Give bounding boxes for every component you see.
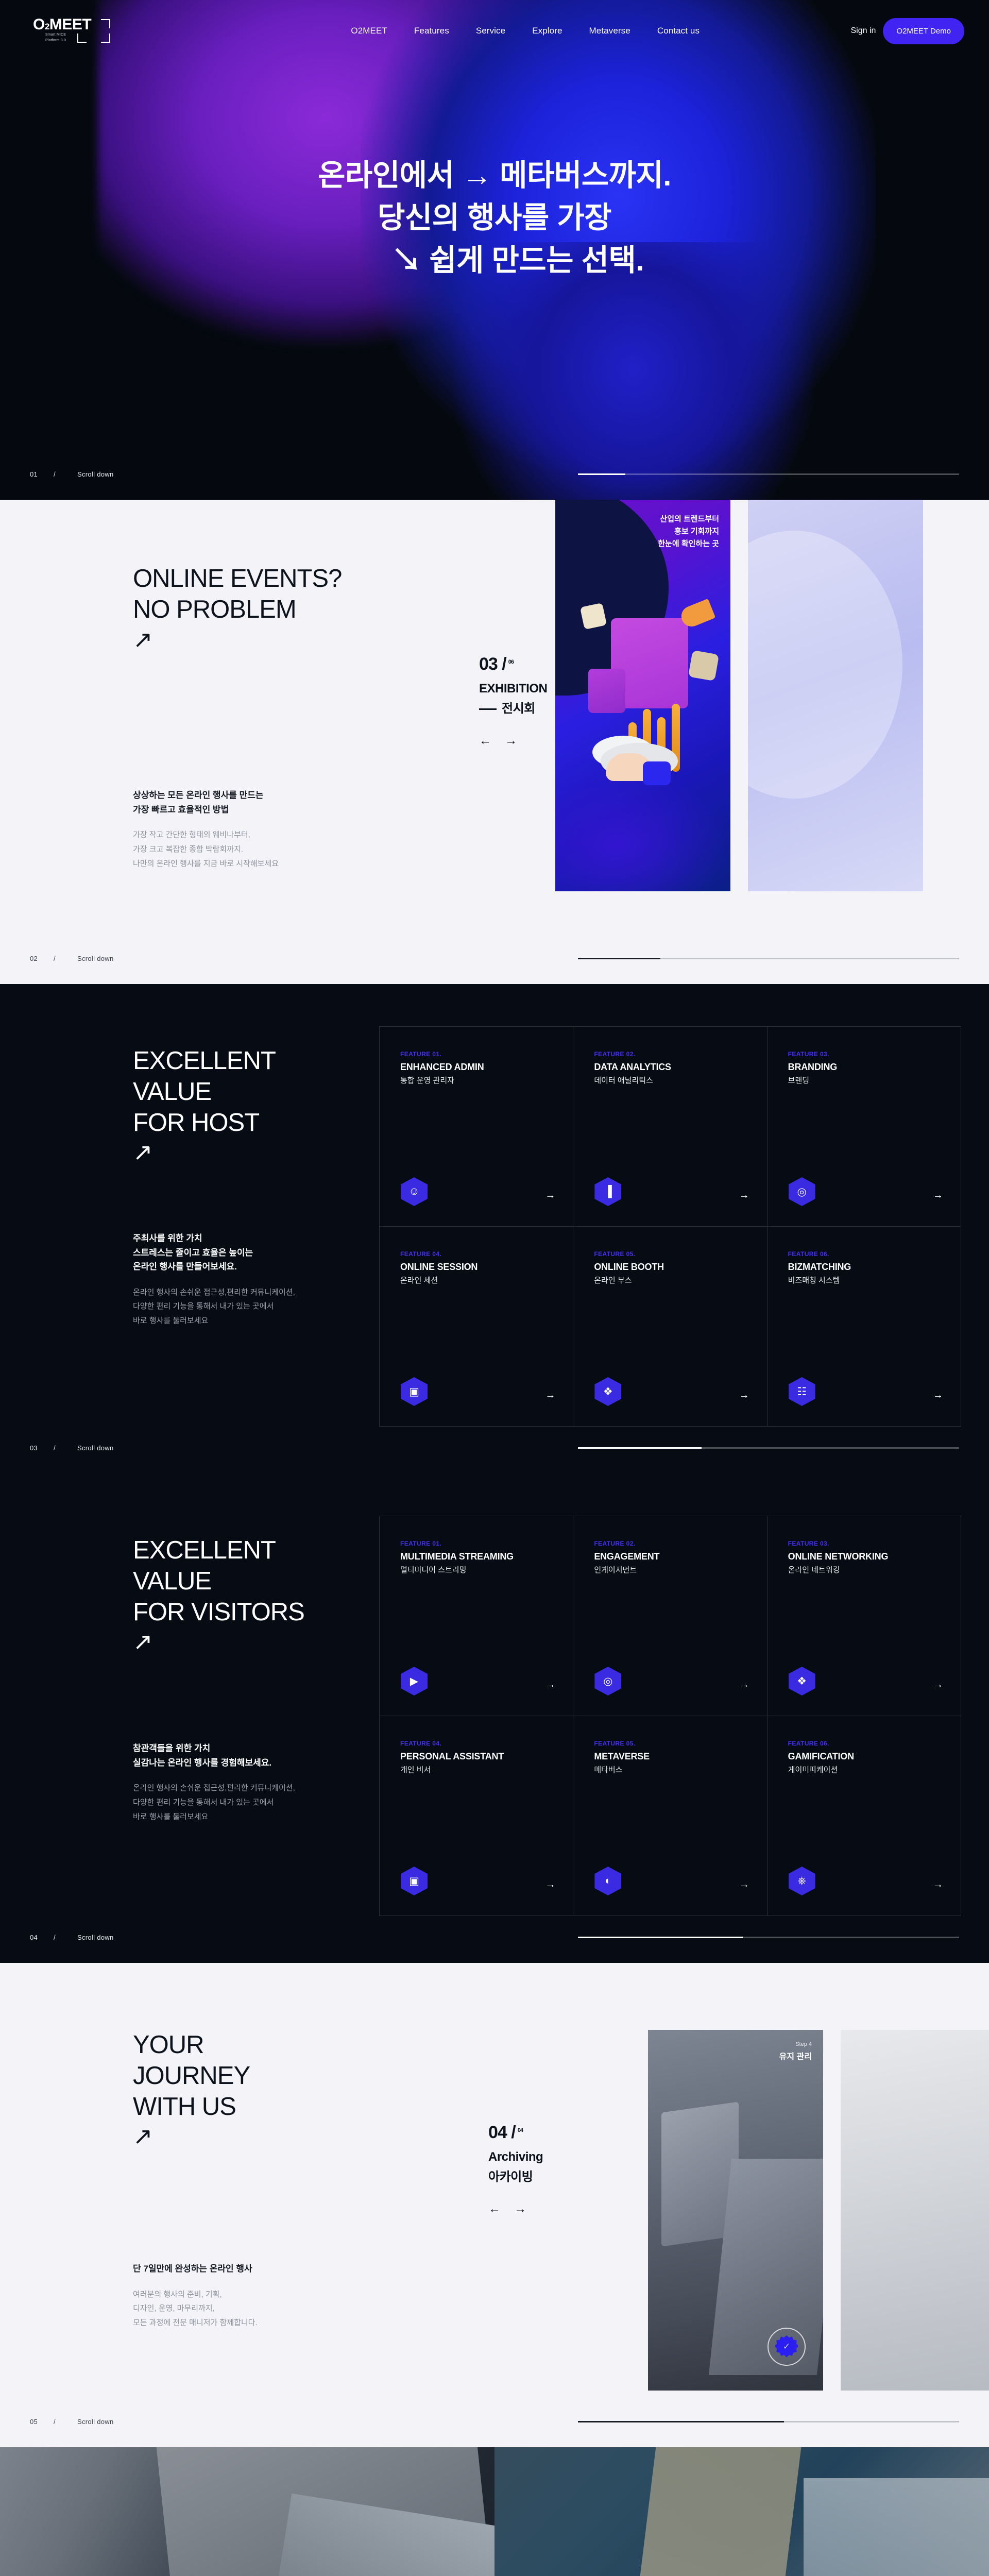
logo-wordmark: O2MEET: [33, 17, 91, 32]
branding-icon: ◎: [788, 1178, 816, 1206]
carousel-next-button[interactable]: →: [514, 2202, 526, 2216]
feature-title-en: ONLINE BOOTH: [594, 1262, 749, 1273]
feature-card[interactable]: FEATURE 02. ENGAGEMENT 인게이지먼트 ◎ →: [573, 1516, 767, 1716]
sign-in-link[interactable]: Sign in: [850, 26, 876, 36]
feature-card[interactable]: FEATURE 03. BRANDING 브랜딩 ◎ →: [768, 1027, 961, 1227]
illustration-panel-small: [588, 669, 625, 713]
heading-line-3: WITH US: [133, 2093, 236, 2121]
feature-title-kr: 통합 운영 관리자: [400, 1075, 555, 1086]
feature-title-en: ENHANCED ADMIN: [400, 1062, 555, 1073]
card-illustration: [571, 603, 715, 788]
landing-page: O2MEET Smart MICEPlatform 3.0 O2MEET Fea…: [0, 0, 989, 2576]
carousel-prev-button[interactable]: ←: [488, 2202, 501, 2216]
feature-title-en: METAVERSE: [594, 1751, 749, 1762]
feature-go-button[interactable]: →: [545, 1190, 555, 1201]
heading-line-1: YOUR: [133, 2031, 204, 2059]
carousel-nav: ← →: [488, 2202, 576, 2216]
feature-tag: FEATURE 05.: [594, 1250, 749, 1258]
heading-line-2: VALUE: [133, 1078, 211, 1106]
scroll-down-label: Scroll down: [77, 2418, 578, 2426]
section-separator: /: [54, 955, 77, 962]
heading-line-1: EXCELLENT: [133, 1047, 276, 1075]
journey-card-archiving[interactable]: Step 4 유지 관리: [648, 2030, 823, 2391]
visitors-feature-grid: FEATURE 01. MULTIMEDIA STREAMING 멀티미디어 스…: [379, 1516, 961, 1916]
lead-body-line-3: 바로 행사를 둘러보세요: [133, 1316, 208, 1325]
logo[interactable]: O2MEET Smart MICEPlatform 3.0: [30, 8, 112, 54]
lead-body: 여러분의 행사의 준비, 기획, 디자인, 운영, 마무리까지, 모든 과정에 …: [133, 2287, 258, 2330]
lead-title: 주최사를 위한 가치 스트레스는 줄이고 효율은 높이는 온라인 행사를 만들어…: [133, 1231, 295, 1274]
feature-go-button[interactable]: →: [933, 1679, 943, 1691]
host-value-section: EXCELLENT VALUE FOR HOST ↗ 주최사를 위한 가치 스트…: [0, 984, 989, 1473]
progress-thumb[interactable]: [578, 1937, 743, 1938]
scroll-down-label: Scroll down: [77, 470, 578, 478]
lead-body-line-2: 가장 크고 복잡한 종합 박람회까지.: [133, 845, 243, 854]
network-icon: ❖: [788, 1667, 816, 1695]
lead-title-line-1: 상상하는 모든 온라인 행사를 만드는: [133, 790, 264, 800]
feature-go-button[interactable]: →: [933, 1389, 943, 1401]
feature-tag: FEATURE 03.: [788, 1540, 943, 1547]
feature-title-en: MULTIMEDIA STREAMING: [400, 1551, 555, 1562]
nav-item-o2meet[interactable]: O2MEET: [351, 26, 387, 36]
online-scroll-indicator: 02 / Scroll down: [0, 955, 989, 962]
hero-line-2: 당신의 행사를 가장: [378, 201, 611, 234]
section-separator: /: [54, 2418, 77, 2426]
nav-item-contact-us[interactable]: Contact us: [657, 26, 700, 36]
lead-title-line-3: 온라인 행사를 만들어보세요.: [133, 1262, 237, 1272]
bizmatching-icon: ☷: [788, 1378, 816, 1405]
card-caption-line-1: 산업의 트렌드부터: [660, 515, 719, 523]
bar-chart-icon: ▐: [594, 1178, 622, 1206]
feature-go-button[interactable]: →: [545, 1389, 555, 1401]
main-nav: O2MEET Features Service Explore Metavers…: [263, 26, 700, 36]
header-actions: Sign in O2MEET Demo: [850, 18, 964, 44]
progress-track[interactable]: [578, 1447, 959, 1449]
scroll-down-label: Scroll down: [77, 1444, 578, 1452]
online-carousel[interactable]: 산업의 트렌드부터 홍보 기회까지 한눈에 확인하는 곳: [555, 500, 923, 891]
heading-line-3: FOR HOST: [133, 1109, 259, 1137]
online-events-lead: 상상하는 모든 온라인 행사를 만드는 가장 빠르고 효율적인 방법 가장 작고…: [133, 788, 279, 871]
heading-line-2: JOURNEY: [133, 2062, 250, 2090]
visitors-lead: 참관객들을 위한 가치 실감나는 온라인 행사를 경험해보세요. 온라인 행사의…: [133, 1741, 295, 1824]
visitors-value-section: EXCELLENT VALUE FOR VISITORS ↗ 참관객들을 위한 …: [0, 1473, 989, 1963]
lead-body-line-1: 가장 작고 간단한 형태의 웨비나부터,: [133, 831, 250, 839]
logo-bracket-bl-icon: [77, 33, 87, 43]
feature-title-kr: 온라인 부스: [594, 1275, 749, 1285]
section-index: 01: [30, 470, 54, 478]
progress-thumb[interactable]: [578, 1447, 702, 1449]
play-icon: ▶: [400, 1667, 428, 1695]
logo-tagline: Smart MICEPlatform 3.0: [45, 32, 66, 43]
lead-title-line-2: 가장 빠르고 효율적인 방법: [133, 805, 229, 815]
section-index: 04: [30, 1934, 54, 1941]
lead-title: 참관객들을 위한 가치 실감나는 온라인 행사를 경험해보세요.: [133, 1741, 295, 1770]
progress-track[interactable]: [578, 2421, 959, 2422]
carousel-name-en: EXHIBITION: [479, 682, 567, 696]
lead-body-line-2: 디자인, 운영, 마무리까지,: [133, 2304, 215, 2313]
online-events-heading: ONLINE EVENTS? NO PROBLEM ↗: [133, 564, 342, 651]
feature-go-button[interactable]: →: [545, 1679, 555, 1691]
feature-card[interactable]: FEATURE 06. GAMIFICATION 게이미피케이션 ⎈ →: [768, 1716, 961, 1916]
demo-button[interactable]: O2MEET Demo: [883, 18, 964, 44]
feature-tag: FEATURE 02.: [594, 1050, 749, 1058]
progress-track[interactable]: [578, 958, 959, 959]
host-feature-grid: FEATURE 01. ENHANCED ADMIN 통합 운영 관리자 ☺ →…: [379, 1026, 961, 1427]
section-index: 05: [30, 2418, 54, 2426]
host-scroll-indicator: 03 / Scroll down: [0, 1444, 989, 1452]
card-caption-line-2: 홍보 기회까지: [674, 527, 719, 536]
heading-line-3: FOR VISITORS: [133, 1598, 304, 1626]
journey-carousel[interactable]: Step 4 유지 관리: [648, 2030, 989, 2391]
heading-line-2: NO PROBLEM: [133, 596, 296, 623]
section-index: 02: [30, 955, 54, 962]
heading-line-1: ONLINE EVENTS?: [133, 565, 342, 592]
feature-go-button[interactable]: →: [933, 1190, 943, 1201]
feature-title-kr: 메타버스: [594, 1764, 749, 1775]
scroll-down-label: Scroll down: [77, 955, 578, 962]
admin-user-icon: ☺: [400, 1178, 428, 1206]
lead-title: 상상하는 모든 온라인 행사를 만드는 가장 빠르고 효율적인 방법: [133, 788, 279, 817]
section-separator: /: [54, 1444, 77, 1452]
feature-go-button[interactable]: →: [739, 1679, 749, 1691]
feature-tag: FEATURE 02.: [594, 1540, 749, 1547]
online-carousel-meta: 03 /06 EXHIBITION 전시회 ← →: [479, 654, 567, 748]
feature-title-kr: 비즈매칭 시스템: [788, 1275, 943, 1285]
host-lead: 주최사를 위한 가치 스트레스는 줄이고 효율은 높이는 온라인 행사를 만들어…: [133, 1231, 295, 1328]
feature-go-button[interactable]: →: [739, 1879, 749, 1891]
section-index: 03: [30, 1444, 54, 1452]
gear-card-icon: [688, 650, 719, 681]
feature-title-kr: 인게이지먼트: [594, 1564, 749, 1575]
visitors-heading: EXCELLENT VALUE FOR VISITORS ↗: [133, 1535, 304, 1653]
feature-title-kr: 온라인 세션: [400, 1275, 555, 1285]
vr-headset-icon: ◐: [594, 1867, 622, 1895]
feature-tag: FEATURE 05.: [594, 1740, 749, 1747]
carousel-name-kr: 전시회: [479, 698, 567, 716]
nav-item-features[interactable]: Features: [414, 26, 449, 36]
carousel-counter: 03 /06: [479, 654, 567, 674]
lead-title-line-1: 참관객들을 위한 가치: [133, 1743, 210, 1753]
progress-thumb[interactable]: [578, 473, 625, 475]
metaverse-panel-overlay: [494, 2447, 989, 2576]
arrow-ne-icon: ↗: [133, 1140, 276, 1164]
scroll-down-label: Scroll down: [77, 1934, 578, 1941]
lead-body-line-1: 여러분의 행사의 준비, 기획,: [133, 2290, 222, 2299]
journey-heading: YOUR JOURNEY WITH US ↗: [133, 2030, 250, 2148]
site-header: O2MEET Smart MICEPlatform 3.0 O2MEET Fea…: [0, 0, 989, 62]
feature-title-en: ONLINE SESSION: [400, 1262, 555, 1273]
hero-line-3: ↘ 쉽게 만드는 선택.: [0, 240, 989, 282]
feature-tag: FEATURE 06.: [788, 1740, 943, 1747]
feature-card[interactable]: FEATURE 03. ONLINE NETWORKING 온라인 네트워킹 ❖…: [768, 1516, 961, 1716]
journey-card-title: 유지 관리: [779, 2049, 812, 2062]
nav-item-metaverse[interactable]: Metaverse: [589, 26, 630, 36]
hero-line-1: 온라인에서 → 메타버스까지.: [318, 159, 671, 192]
visitors-scroll-indicator: 04 / Scroll down: [0, 1934, 989, 1941]
progress-track[interactable]: [578, 473, 959, 475]
feature-title-kr: 개인 비서: [400, 1764, 555, 1775]
online-events-section: ONLINE EVENTS? NO PROBLEM ↗ 상상하는 모든 온라인 …: [0, 500, 989, 984]
feature-tag: FEATURE 04.: [400, 1250, 555, 1258]
nav-item-service[interactable]: Service: [476, 26, 505, 36]
feature-tag: FEATURE 03.: [788, 1050, 943, 1058]
feature-card[interactable]: FEATURE 05. ONLINE BOOTH 온라인 부스 ❖ →: [573, 1227, 767, 1427]
carousel-name-kr: 아카이빙: [488, 2166, 576, 2184]
carousel-prev-button[interactable]: ←: [479, 734, 491, 748]
feature-card[interactable]: FEATURE 01. MULTIMEDIA STREAMING 멀티미디어 스…: [380, 1516, 573, 1716]
engagement-icon: ◎: [594, 1667, 622, 1695]
lead-body: 온라인 행사의 손쉬운 접근성,편리한 커뮤니케이션, 다양한 편리 기능을 통…: [133, 1285, 295, 1328]
journey-card-caption: Step 4 유지 관리: [779, 2041, 812, 2062]
lead-body: 가장 작고 간단한 형태의 웨비나부터, 가장 크고 복잡한 종합 박람회까지.…: [133, 828, 279, 871]
progress-track[interactable]: [578, 1937, 959, 1938]
gamepad-icon: ⎈: [788, 1867, 816, 1895]
arrow-ne-icon: ↗: [133, 2124, 250, 2148]
feature-card[interactable]: FEATURE 06. BIZMATCHING 비즈매칭 시스템 ☷ →: [768, 1227, 961, 1427]
lead-body-line-3: 모든 과정에 전문 매니저가 함께합니다.: [133, 2318, 258, 2327]
journey-card-step: Step 4: [779, 2041, 812, 2047]
feature-card[interactable]: FEATURE 04. PERSONAL ASSISTANT 개인 비서 ▣ →: [380, 1716, 573, 1916]
feature-go-button[interactable]: →: [739, 1389, 749, 1401]
journey-scroll-indicator: 05 / Scroll down: [0, 2418, 989, 2426]
feature-title-en: GAMIFICATION: [788, 1751, 943, 1762]
arrow-ne-icon: ↗: [133, 628, 342, 651]
booth-icon: ❖: [594, 1378, 622, 1405]
feature-card[interactable]: FEATURE 04. ONLINE SESSION 온라인 세션 ▣ →: [380, 1227, 573, 1427]
heading-line-1: EXCELLENT: [133, 1536, 276, 1564]
carousel-nav: ← →: [479, 734, 567, 748]
card-caption: 산업의 트렌드부터 홍보 기회까지 한눈에 확인하는 곳: [658, 513, 719, 550]
feature-tag: FEATURE 04.: [400, 1740, 555, 1747]
lead-body-line-1: 온라인 행사의 손쉬운 접근성,편리한 커뮤니케이션,: [133, 1288, 295, 1297]
feature-title-kr: 데이터 애널리틱스: [594, 1075, 749, 1086]
lead-body-line-3: 바로 행사를 둘러보세요: [133, 1812, 208, 1821]
journey-lead: 단 7일만에 완성하는 온라인 행사 여러분의 행사의 준비, 기획, 디자인,…: [133, 2262, 258, 2330]
logo-bracket-br-icon: [101, 33, 110, 43]
lead-title: 단 7일만에 완성하는 온라인 행사: [133, 2262, 258, 2276]
web-panel-overlay: [0, 2447, 494, 2576]
feature-title-en: ONLINE NETWORKING: [788, 1551, 943, 1562]
metaverse-online-events-panel[interactable]: METAVERSE ONLINE EVENTS ↗ 최신 트렌드의 메타버스 버…: [494, 2447, 989, 2576]
feature-title-kr: 브랜딩: [788, 1075, 943, 1086]
feature-title-en: PERSONAL ASSISTANT: [400, 1751, 555, 1762]
web-online-events-panel[interactable]: WEB ONLINE EVENTS ↗ 가장 인기가 많은 웹 버전 온라인 행…: [0, 2447, 494, 2576]
hero-section: O2MEET Smart MICEPlatform 3.0 O2MEET Fea…: [0, 0, 989, 500]
lead-body-line-2: 다양한 편리 기능을 통해서 내가 있는 곳에서: [133, 1798, 274, 1807]
feature-tag: FEATURE 01.: [400, 1050, 555, 1058]
arrow-ne-icon: ↗: [133, 1630, 304, 1653]
feature-title-en: BIZMATCHING: [788, 1262, 943, 1273]
carousel-card-next[interactable]: [748, 500, 923, 891]
feature-tag: FEATURE 06.: [788, 1250, 943, 1258]
lead-body: 온라인 행사의 손쉬운 접근성,편리한 커뮤니케이션, 다양한 편리 기능을 통…: [133, 1781, 295, 1824]
logo-bracket-tr-icon: [101, 19, 110, 28]
check-card-icon: [580, 603, 607, 630]
carousel-counter: 04 /04: [488, 2123, 576, 2143]
feature-title-en: DATA ANALYTICS: [594, 1062, 749, 1073]
lead-body-line-3: 나만의 온라인 행사를 지금 바로 시작해보세요: [133, 859, 279, 868]
journey-section: YOUR JOURNEY WITH US ↗ 단 7일만에 완성하는 온라인 행…: [0, 1963, 989, 2447]
feature-title-kr: 온라인 네트워킹: [788, 1564, 943, 1575]
journey-carousel-meta: 04 /04 Archiving 아카이빙 ← →: [488, 2123, 576, 2216]
progress-thumb[interactable]: [578, 958, 660, 959]
nav-item-explore[interactable]: Explore: [532, 26, 562, 36]
dash-icon: [479, 708, 497, 710]
feature-go-button[interactable]: →: [739, 1190, 749, 1201]
feature-tag: FEATURE 01.: [400, 1540, 555, 1547]
card-caption-line-3: 한눈에 확인하는 곳: [658, 539, 719, 548]
lead-title-line-2: 실감나는 온라인 행사를 경험해보세요.: [133, 1758, 271, 1768]
lead-body-line-2: 다양한 편리 기능을 통해서 내가 있는 곳에서: [133, 1302, 274, 1311]
feature-title-kr: 멀티미디어 스트리밍: [400, 1564, 555, 1575]
carousel-card-exhibition[interactable]: 산업의 트렌드부터 홍보 기회까지 한눈에 확인하는 곳: [555, 500, 730, 891]
feature-card[interactable]: FEATURE 01. ENHANCED ADMIN 통합 운영 관리자 ☺ →: [380, 1027, 573, 1227]
feature-go-button[interactable]: →: [933, 1879, 943, 1891]
session-screen-icon: ▣: [400, 1378, 428, 1405]
carousel-name-en: Archiving: [488, 2150, 576, 2164]
progress-thumb[interactable]: [578, 2421, 784, 2422]
lead-body-line-1: 온라인 행사의 손쉬운 접근성,편리한 커뮤니케이션,: [133, 1784, 295, 1792]
feature-title-en: BRANDING: [788, 1062, 943, 1073]
event-types-split-section: WEB ONLINE EVENTS ↗ 가장 인기가 많은 웹 버전 온라인 행…: [0, 2447, 989, 2576]
section-separator: /: [54, 1934, 77, 1941]
feature-card[interactable]: FEATURE 02. DATA ANALYTICS 데이터 애널리틱스 ▐ →: [573, 1027, 767, 1227]
assistant-icon: ▣: [400, 1867, 428, 1895]
illustration-cuff: [643, 761, 671, 785]
verified-gear-icon: [768, 2328, 806, 2366]
feature-go-button[interactable]: →: [545, 1879, 555, 1891]
hero-scroll-indicator: 01 / Scroll down: [0, 470, 989, 478]
journey-card-next[interactable]: [841, 2030, 989, 2391]
carousel-next-button[interactable]: →: [505, 734, 517, 748]
heading-line-2: VALUE: [133, 1567, 211, 1595]
feature-title-kr: 게이미피케이션: [788, 1764, 943, 1775]
host-heading: EXCELLENT VALUE FOR HOST ↗: [133, 1046, 276, 1164]
section-separator: /: [54, 470, 77, 478]
feature-title-en: ENGAGEMENT: [594, 1551, 749, 1562]
lead-title-line-2: 스트레스는 줄이고 효율은 높이는: [133, 1248, 253, 1258]
feature-card[interactable]: FEATURE 05. METAVERSE 메타버스 ◐ →: [573, 1716, 767, 1916]
lead-title-line-1: 주최사를 위한 가치: [133, 1233, 202, 1243]
